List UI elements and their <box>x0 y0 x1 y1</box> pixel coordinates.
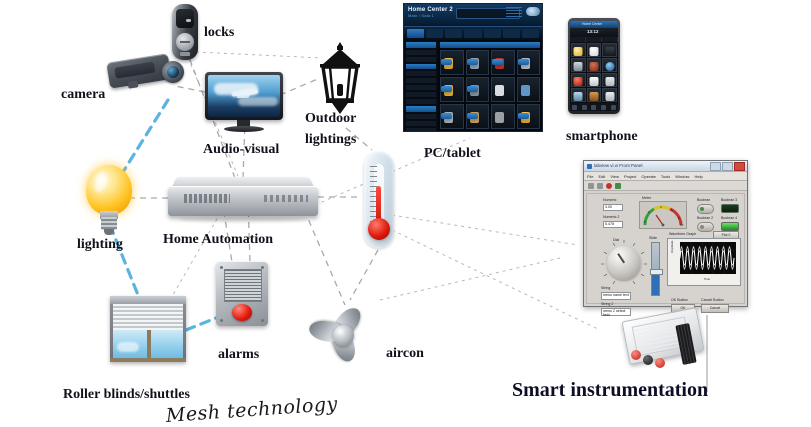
daq-assembly <box>615 312 711 370</box>
home-center-topbar: Home Center 2 Main / Sala 1 <box>404 4 542 27</box>
waveform-plot-area <box>680 242 736 274</box>
window-mullion <box>147 330 151 359</box>
shutter-slats <box>113 304 183 330</box>
dock-settings-icon[interactable] <box>591 105 596 110</box>
window-glass <box>113 330 183 359</box>
device-tile[interactable] <box>491 104 515 129</box>
device-tile[interactable] <box>491 77 515 102</box>
lock-screen <box>176 9 194 28</box>
daq-jack-black[interactable] <box>643 355 653 365</box>
device-tile[interactable] <box>440 104 464 129</box>
tab-sections[interactable] <box>407 29 424 38</box>
sidebar-item-kitchen[interactable] <box>406 64 436 69</box>
label-home-automation: Home Automation <box>163 233 273 248</box>
phone-app-heating[interactable] <box>587 43 602 57</box>
home-center-nav-tabs[interactable] <box>404 27 542 40</box>
tv-frame <box>205 72 283 120</box>
alarm-panic-button[interactable] <box>232 304 252 321</box>
device-door-lock[interactable] <box>172 4 202 62</box>
phone-clock: 13:12 <box>587 29 599 34</box>
scene-row[interactable] <box>440 131 540 132</box>
shutter-frame <box>110 296 186 362</box>
device-tile[interactable] <box>517 104 541 129</box>
phone-body: Home Center 13:12 <box>568 18 620 114</box>
phone-app-media[interactable] <box>571 88 586 102</box>
alarm-body <box>216 262 268 326</box>
window-reflection <box>117 342 139 352</box>
device-alarm[interactable] <box>216 262 270 328</box>
tab-plugins[interactable] <box>484 29 501 38</box>
device-tile[interactable] <box>517 77 541 102</box>
heating-icon <box>589 47 598 56</box>
kitchen-icon <box>589 77 598 86</box>
phone-app-lights[interactable] <box>571 43 586 57</box>
run-continuous-icon[interactable] <box>597 183 603 189</box>
boolean2-indicator <box>700 225 704 229</box>
media-icon <box>574 92 583 101</box>
dock-tools-icon[interactable] <box>601 105 606 110</box>
phone-dock[interactable] <box>570 103 618 111</box>
boolean3-led[interactable] <box>721 204 739 213</box>
device-roller-shutter[interactable] <box>110 296 188 364</box>
labview-front-panel: Numeric 3.00 Numeric 2 5.478 Meter 024 6 <box>586 193 745 304</box>
meter-gauge[interactable]: 024 6810 <box>639 201 687 229</box>
lock-indicator <box>186 19 191 22</box>
home-center-window: Home Center 2 Main / Sala 1 <box>403 3 543 132</box>
device-daq-module[interactable] <box>615 312 713 372</box>
tile-switch[interactable] <box>441 113 452 119</box>
fan-assembly <box>313 305 379 365</box>
tile-switch[interactable] <box>467 86 478 92</box>
thermometer-bulb <box>368 218 390 240</box>
phone-carrier-text: Home Center <box>582 22 602 26</box>
menu-window[interactable]: Window <box>675 174 689 179</box>
device-tile[interactable] <box>466 104 490 129</box>
maximize-button[interactable] <box>722 162 733 171</box>
screenshot-smartphone[interactable]: Home Center 13:12 <box>568 18 622 116</box>
device-television[interactable] <box>205 72 285 134</box>
numeric-field[interactable]: 3.00 <box>603 204 623 211</box>
label-smartphone: smartphone <box>566 130 638 145</box>
dock-notes-icon[interactable] <box>572 105 577 110</box>
scene-list[interactable] <box>440 131 540 132</box>
sidebar-item-bedroom[interactable] <box>406 78 436 83</box>
hub-chassis <box>168 176 318 220</box>
alarm-screw-tr <box>261 266 264 269</box>
dock-devices-icon[interactable] <box>582 105 587 110</box>
daq-jack-red-2[interactable] <box>655 358 665 368</box>
tile-switch[interactable] <box>441 86 452 92</box>
labview-window-buttons[interactable] <box>710 162 745 171</box>
string-field[interactable]: menu name text <box>601 292 631 300</box>
bulb-glass <box>86 165 132 215</box>
sidebar-item-all[interactable] <box>406 114 436 119</box>
device-tile[interactable] <box>517 50 541 75</box>
boolean4-led[interactable] <box>721 222 739 231</box>
mesh-link-blinds-alarms <box>186 318 216 330</box>
home-center-status-meter <box>506 7 522 17</box>
label-outdoor-lightings-line1: Outdoor <box>305 112 356 127</box>
label-smart-instrumentation: Smart instrumentation <box>512 380 708 401</box>
graph-title: Waveform Graph <box>669 232 696 236</box>
device-tile[interactable] <box>466 77 490 102</box>
phone-app-sauna[interactable] <box>587 88 602 102</box>
screenshot-labview-panel[interactable]: labview vi.vi Front Panel File Edit View… <box>583 160 750 309</box>
boolean2-toggle[interactable] <box>697 222 714 232</box>
phone-app-security[interactable] <box>587 58 602 72</box>
slider-label: Slide <box>649 236 657 240</box>
device-home-automation-hub[interactable] <box>168 176 320 224</box>
sidebar-header-rooms <box>406 42 436 48</box>
sidebar-item-blinds[interactable] <box>406 128 436 132</box>
menu-tools[interactable]: Tools <box>661 174 670 179</box>
labview-window: labview vi.vi Front Panel File Edit View… <box>583 160 748 307</box>
sidebar-item-second-floor[interactable] <box>406 57 436 62</box>
link-fan-right <box>380 258 560 300</box>
device-tile[interactable] <box>440 50 464 75</box>
boolean-toggle[interactable] <box>697 204 714 214</box>
phone-app-blinds[interactable] <box>602 43 617 57</box>
slider-handle[interactable] <box>650 269 663 275</box>
phone-title-bar: 13:12 <box>570 28 618 37</box>
tile-icon-thermostat <box>495 85 504 96</box>
waveform-trace <box>680 242 736 274</box>
minimize-button[interactable] <box>710 162 721 171</box>
hub-front-panel <box>168 186 318 216</box>
blinds-icon <box>605 47 614 56</box>
tv-stand-base <box>224 126 264 132</box>
label-pc-tablet: PC/tablet <box>424 147 481 162</box>
device-tile[interactable] <box>440 77 464 102</box>
tab-settings[interactable] <box>522 29 539 38</box>
tab-panels[interactable] <box>503 29 520 38</box>
device-light-bulb[interactable] <box>86 165 134 237</box>
phone-app-garage[interactable] <box>571 58 586 72</box>
sidebar-item-main[interactable] <box>406 50 436 55</box>
tile-switch[interactable] <box>518 59 529 65</box>
boolean4-label: Boolean 4 <box>721 216 737 220</box>
bulb-tip <box>104 229 114 235</box>
meter-label: Meter <box>642 196 651 200</box>
menu-view[interactable]: View <box>610 174 619 179</box>
label-locks: locks <box>204 26 234 41</box>
graph-ylabel: Amplitude <box>670 241 674 253</box>
numeric-label: Numeric <box>603 198 616 202</box>
thermometer-body <box>364 152 394 248</box>
home-center-body <box>404 40 542 132</box>
lock-body <box>172 4 198 60</box>
boolean3-label: Boolean 3 <box>721 198 737 202</box>
content-header-bar <box>440 42 540 48</box>
camera-mount <box>128 80 139 88</box>
link-thermo-daq <box>392 230 600 330</box>
sidebar-item-children[interactable] <box>406 85 436 90</box>
labview-menubar[interactable]: File Edit View Project Operate Tools Win… <box>584 172 747 181</box>
link-thermo-labview <box>392 215 578 245</box>
hub-shadow <box>178 217 308 222</box>
label-roller-blinds: Roller blinds/shuttles <box>63 388 190 403</box>
pause-icon[interactable] <box>615 183 621 189</box>
labview-toolbar[interactable] <box>584 181 747 191</box>
menu-edit[interactable]: Edit <box>598 174 605 179</box>
phone-app-alarm[interactable] <box>571 73 586 87</box>
garage-icon <box>574 62 583 71</box>
numeric2-field[interactable]: 5.478 <box>603 221 623 228</box>
sauna-icon <box>589 92 598 101</box>
bulb-highlight <box>93 171 109 193</box>
screenshot-pc-tablet[interactable]: Home Center 2 Main / Sala 1 <box>403 3 545 134</box>
labview-app-icon <box>587 164 592 169</box>
boolean-label: Boolean <box>697 198 710 202</box>
camera-slot <box>114 62 155 79</box>
ok-button-label: OK Button <box>671 298 688 302</box>
diagram-canvas: camera locks Audio-visual <box>0 0 811 425</box>
handwritten-mesh-technology-note: Mesh technology <box>165 393 338 427</box>
graph-xlabel: Time <box>704 277 710 281</box>
tv-cloud-b <box>238 97 278 106</box>
home-center-sidebar[interactable] <box>404 40 438 132</box>
home-center-brand-sub: Main / Sala 1 <box>408 13 453 18</box>
tile-switch[interactable] <box>518 113 529 119</box>
sidebar-header-types <box>406 106 436 112</box>
abort-icon[interactable] <box>606 183 612 189</box>
numeric2-label: Numeric 2 <box>603 215 619 219</box>
lock-badge <box>180 52 190 56</box>
phone-status-bar: Home Center <box>570 21 618 28</box>
menu-help[interactable]: Help <box>694 174 702 179</box>
meter-arc: 024 6810 <box>640 202 686 228</box>
tile-switch[interactable] <box>441 59 452 65</box>
shutter-headbox <box>110 296 186 304</box>
phone-app-kitchen[interactable] <box>587 73 602 87</box>
tile-switch[interactable] <box>467 113 478 119</box>
security-icon <box>589 62 598 71</box>
label-camera: camera <box>61 88 105 103</box>
device-aircon-fan[interactable] <box>313 305 381 367</box>
alarm-screw-br <box>261 319 264 322</box>
device-tile[interactable] <box>466 50 490 75</box>
boolean-indicator <box>700 207 704 211</box>
hub-brand-logo <box>184 194 230 203</box>
phone-screen: Home Center 13:12 <box>570 21 618 111</box>
tab-alarm[interactable] <box>464 29 481 38</box>
alarm-screw-bl <box>220 319 223 322</box>
phone-app-grid[interactable] <box>570 42 618 103</box>
lock-thumbturn <box>176 33 194 51</box>
device-tile[interactable] <box>491 50 515 75</box>
daq-jack-red-1[interactable] <box>631 350 641 360</box>
scenes-icon <box>605 92 614 101</box>
waveform-graph[interactable]: Amplitude Time <box>667 238 741 286</box>
sidebar-item-living-room[interactable] <box>406 71 436 76</box>
svg-text:10: 10 <box>680 223 684 227</box>
tile-switch[interactable] <box>467 59 478 65</box>
link-locks-lamp <box>196 52 322 58</box>
string-label: String <box>601 286 610 290</box>
home-center-main <box>438 40 542 132</box>
lights-icon <box>574 47 583 56</box>
camera-glass <box>166 65 180 79</box>
dock-power-icon[interactable] <box>611 105 616 110</box>
labview-window-title: labview vi.vi Front Panel <box>594 163 643 168</box>
menu-project[interactable]: Project <box>624 174 636 179</box>
home-center-brand: Home Center 2 Main / Sala 1 <box>408 7 453 18</box>
tab-scenes[interactable] <box>445 29 462 38</box>
slider-fill <box>652 273 659 295</box>
hub-port-row <box>264 195 308 202</box>
vertical-slider[interactable] <box>651 242 660 296</box>
device-thermostat[interactable] <box>364 152 396 250</box>
label-lighting: lighting <box>77 238 123 253</box>
help-icon <box>605 77 614 86</box>
network-icon <box>605 62 614 71</box>
dial-tick-ring <box>599 238 649 288</box>
label-alarms: alarms <box>218 348 259 363</box>
label-aircon: aircon <box>386 347 424 362</box>
fan-hub <box>333 325 354 346</box>
sidebar-item-garage[interactable] <box>406 99 436 104</box>
tile-switch[interactable] <box>492 59 503 65</box>
boolean2-label: Boolean 2 <box>697 216 713 220</box>
menu-file[interactable]: File <box>587 174 593 179</box>
device-tile-grid[interactable] <box>440 50 540 129</box>
labview-titlebar: labview vi.vi Front Panel <box>584 161 747 172</box>
camera-lens <box>160 59 185 84</box>
alarm-screw-tl <box>220 266 223 269</box>
label-audio-visual: Audio-visual <box>203 143 279 158</box>
sidebar-item-bathroom[interactable] <box>406 92 436 97</box>
cancel-button-label: Cancel Button <box>701 298 724 302</box>
tile-icon-smoke <box>495 112 504 123</box>
run-arrow-icon[interactable] <box>588 183 594 189</box>
phone-app-network[interactable] <box>602 58 617 72</box>
alarm-speaker-grille <box>224 269 262 302</box>
label-outdoor-lightings-line2: lightings <box>305 133 356 148</box>
lock-keyway <box>180 41 190 43</box>
window-sill <box>110 358 186 362</box>
string2-label: String 2 <box>601 302 613 306</box>
link-thermo-fan <box>350 250 378 300</box>
tv-screen <box>208 75 280 117</box>
close-button[interactable] <box>734 162 745 171</box>
sidebar-item-lights[interactable] <box>406 121 436 126</box>
phone-app-help[interactable] <box>602 73 617 87</box>
alarm-icon <box>574 77 583 86</box>
phone-app-scenes[interactable] <box>602 88 617 102</box>
tile-icon-power <box>521 85 530 96</box>
tab-devices[interactable] <box>426 29 443 38</box>
menu-operate[interactable]: Operate <box>641 174 655 179</box>
weather-cloud-icon <box>526 7 540 16</box>
